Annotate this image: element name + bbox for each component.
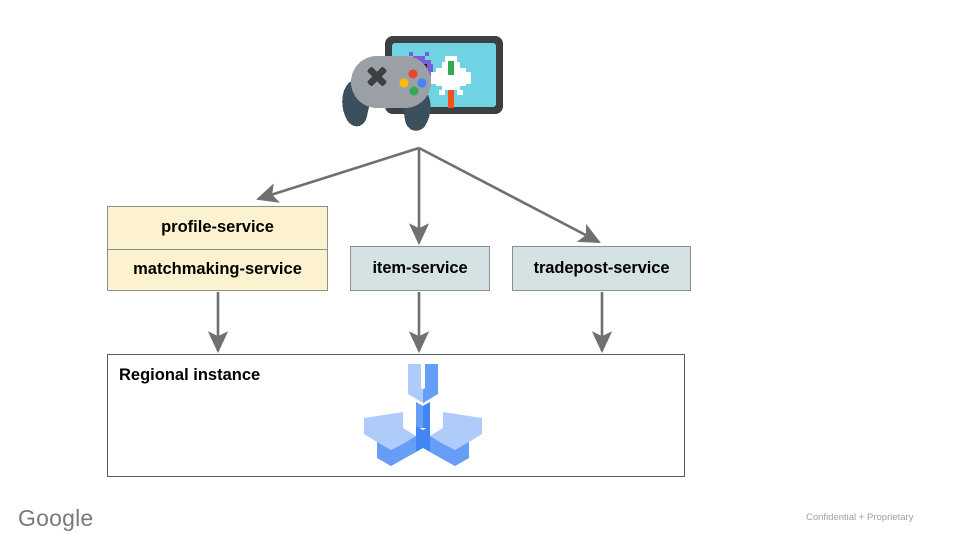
google-wordmark: Google (18, 505, 93, 532)
gcp-game-servers-icon (362, 362, 484, 472)
node-tradepost-service-label: tradepost-service (534, 259, 670, 278)
slide-canvas: profile-service matchmaking-service item… (0, 0, 960, 540)
confidentiality-note: Confidential + Proprietary (806, 512, 913, 523)
node-matchmaking-service-label: matchmaking-service (133, 260, 302, 279)
service-group-left[interactable]: profile-service matchmaking-service (107, 206, 328, 291)
game-client-icon (335, 28, 515, 148)
node-profile-service-label: profile-service (161, 218, 274, 237)
node-item-service-label: item-service (372, 259, 467, 278)
node-tradepost-service[interactable]: tradepost-service (512, 246, 691, 291)
node-item-service[interactable]: item-service (350, 246, 490, 291)
node-profile-service[interactable]: profile-service (108, 207, 327, 249)
regional-instance-label: Regional instance (119, 366, 260, 385)
arrow-client-to-tradepost (419, 148, 599, 242)
node-matchmaking-service[interactable]: matchmaking-service (108, 249, 327, 291)
arrow-client-to-profile (258, 148, 419, 199)
